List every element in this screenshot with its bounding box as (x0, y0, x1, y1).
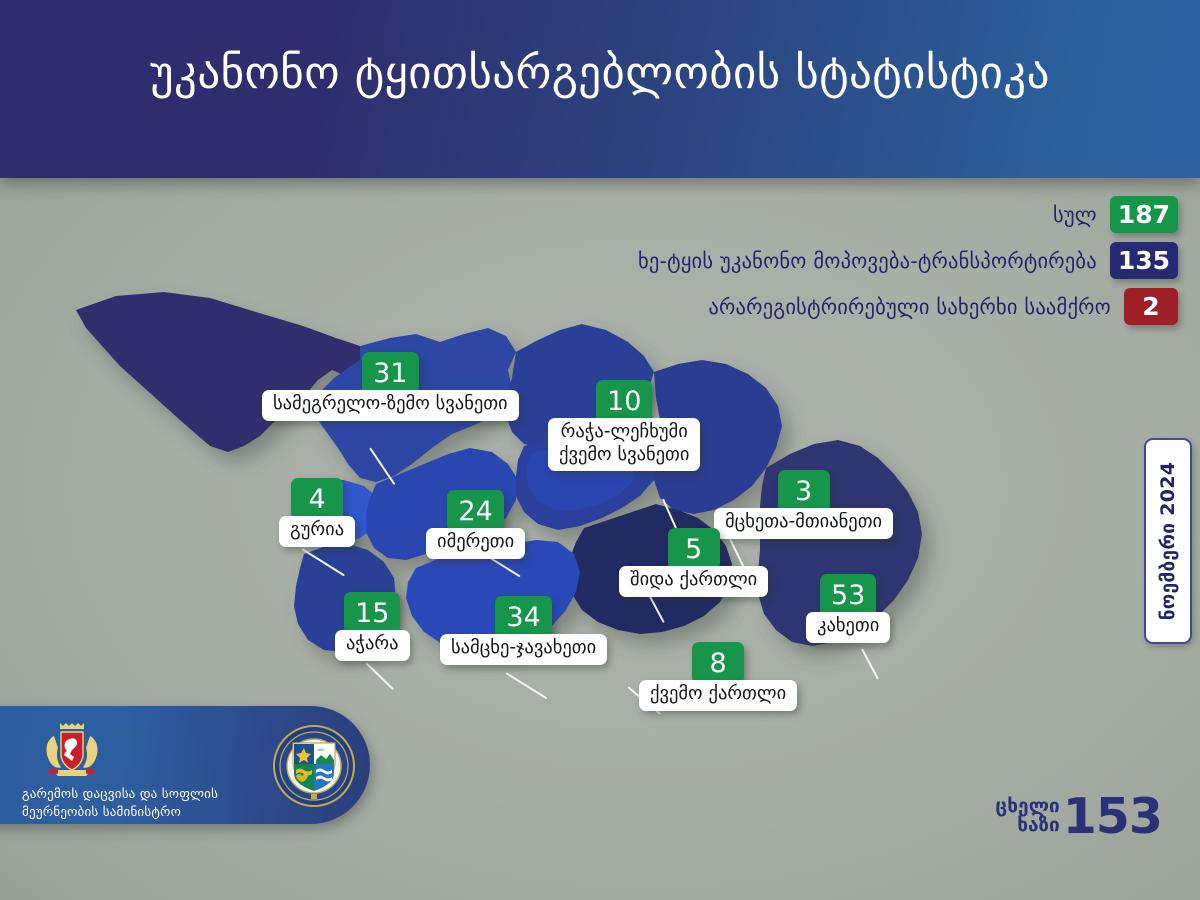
value-badge-mtskheta: 3 (778, 470, 830, 512)
value-badge-imereti: 24 (447, 490, 503, 532)
value-badge-shida-kartli: 5 (668, 528, 720, 570)
region-label-shida-kartli: შიდა ქართლი (619, 566, 768, 597)
callout-samtskhe-javakheti: 34 სამცხე-ჯავახეთი (440, 596, 607, 665)
region-label-samtskhe: სამცხე-ჯავახეთი (440, 634, 607, 665)
georgia-coat-of-arms-icon (40, 720, 104, 780)
callout-imereti: 24 იმერეთი (426, 490, 525, 559)
hotline-word2: ხაზი (995, 816, 1059, 836)
callout-guria: 4 გურია (279, 478, 355, 547)
region-label-kvemo-kartli: ქვემო ქართლი (639, 680, 797, 711)
region-label-racha-line1: რაჭა-ლეჩხუმი (561, 421, 688, 442)
page-title: უკანონო ტყითსარგებლობის სტატისტიკა (0, 46, 1200, 99)
header-banner: უკანონო ტყითსარგებლობის სტატისტიკა (0, 0, 1200, 178)
date-tab: ნოემბერი 2024 (1144, 438, 1192, 644)
value-badge-samegrelo: 31 (362, 352, 418, 394)
legend-label-sawmill: არარეგისტრირებული სახერხი საამქრო (708, 295, 1111, 319)
callout-racha-lechkhumi: 10 რაჭა-ლეჩხუმი ქვემო სვანეთი (548, 380, 700, 471)
legend-row-sawmill: არარეგისტრირებული სახერხი საამქრო 2 (708, 288, 1178, 325)
callout-kvemo-kartli: 8 ქვემო ქართლი (639, 642, 797, 711)
value-badge-racha: 10 (596, 380, 652, 422)
agency-emblem-icon (272, 724, 356, 808)
value-badge-kakheti: 53 (820, 574, 876, 616)
legend-row-transport: ხე-ტყის უკანონო მოპოვება-ტრანსპორტირება … (638, 242, 1178, 279)
value-badge-kvemo-kartli: 8 (692, 642, 744, 684)
date-label: ნოემბერი 2024 (1157, 462, 1179, 621)
hotline: ცხელი ხაზი 153 (995, 795, 1162, 838)
legend-value-sawmill: 2 (1124, 288, 1178, 325)
region-label-guria: გურია (279, 516, 355, 547)
infographic-canvas: უკანონო ტყითსარგებლობის სტატისტიკა სულ 1… (0, 0, 1200, 900)
region-label-kakheti: კახეთი (806, 612, 890, 643)
region-label-imereti: იმერეთი (426, 528, 525, 559)
callout-samegrelo-zemo-svaneti: 31 სამეგრელო-ზემო სვანეთი (262, 352, 519, 421)
legend-value-total: 187 (1110, 196, 1178, 233)
hotline-label: ცხელი ხაზი (995, 797, 1059, 837)
legend-value-transport: 135 (1110, 242, 1178, 279)
legend-label-transport: ხე-ტყის უკანონო მოპოვება-ტრანსპორტირება (638, 249, 1097, 273)
callout-shida-kartli: 5 შიდა ქართლი (619, 528, 768, 597)
region-label-racha: რაჭა-ლეჩხუმი ქვემო სვანეთი (548, 418, 700, 471)
callout-kakheti: 53 კახეთი (806, 574, 890, 643)
region-label-racha-line2: ქვემო სვანეთი (559, 444, 689, 465)
ministry-name-line2: მეურნეობის სამინისტრო (22, 804, 218, 822)
ministry-name-line1: გარემოს დაცვისა და სოფლის (22, 786, 218, 804)
legend-label-total: სულ (1053, 203, 1097, 227)
region-label-adjara: აჭარა (335, 630, 410, 661)
value-badge-guria: 4 (291, 478, 343, 520)
callout-adjara: 15 აჭარა (335, 592, 410, 661)
legend: სულ 187 ხე-ტყის უკანონო მოპოვება-ტრანსპო… (638, 196, 1178, 325)
value-badge-samtskhe: 34 (495, 596, 551, 638)
legend-row-total: სულ 187 (1053, 196, 1178, 233)
value-badge-adjara: 15 (344, 592, 400, 634)
hotline-number: 153 (1063, 795, 1162, 838)
ministry-name: გარემოს დაცვისა და სოფლის მეურნეობის სამ… (22, 786, 218, 822)
region-label-samegrelo: სამეგრელო-ზემო სვანეთი (262, 390, 519, 421)
